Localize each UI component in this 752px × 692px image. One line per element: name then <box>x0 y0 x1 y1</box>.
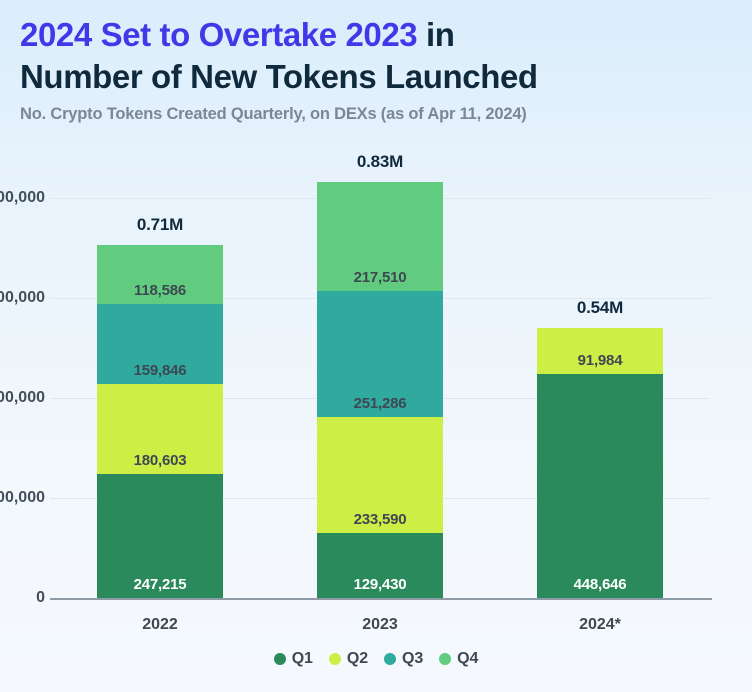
chart-subtitle: No. Crypto Tokens Created Quarterly, on … <box>20 105 732 124</box>
bar-segment-q2[interactable]: 91,984 <box>537 328 663 374</box>
plot-area: 0200,000400,000600,000800,000 247,215180… <box>0 150 752 650</box>
bar-segment-value-q1: 448,646 <box>537 576 663 593</box>
legend-swatch-q3 <box>384 653 396 665</box>
bar-segment-q1[interactable]: 448,646 <box>537 374 663 598</box>
legend-item-q3[interactable]: Q3 <box>384 650 423 668</box>
bar-segment-q3[interactable]: 251,286 <box>317 291 443 417</box>
title-accent-text: 2024 Set to Overtake 2023 <box>20 16 417 53</box>
bar-segment-q4[interactable]: 118,586 <box>97 245 223 304</box>
bar-segment-q3[interactable]: 159,846 <box>97 304 223 384</box>
bar-segment-value-q1: 129,430 <box>317 576 443 593</box>
legend-item-q4[interactable]: Q4 <box>439 650 478 668</box>
bar-segment-value-q3: 159,846 <box>97 362 223 379</box>
legend-label-q1: Q1 <box>292 650 313 668</box>
legend-item-q2[interactable]: Q2 <box>329 650 368 668</box>
bar-segment-value-q3: 251,286 <box>317 395 443 412</box>
infographic-root: 2024 Set to Overtake 2023 in Number of N… <box>0 0 752 692</box>
legend-swatch-q4 <box>439 653 451 665</box>
bar-segment-q2[interactable]: 233,590 <box>317 417 443 534</box>
page-title: 2024 Set to Overtake 2023 in Number of N… <box>20 14 732 98</box>
y-axis-tick-label: 800,000 <box>0 189 45 207</box>
bar-segment-value-q2: 91,984 <box>537 352 663 369</box>
legend-swatch-q1 <box>274 653 286 665</box>
x-axis-label: 2023 <box>287 616 473 634</box>
bar-total-label: 0.71M <box>67 215 253 235</box>
y-axis-tick-label: 200,000 <box>0 489 45 507</box>
x-axis-label: 2022 <box>67 616 253 634</box>
legend-label-q2: Q2 <box>347 650 368 668</box>
chart-header: 2024 Set to Overtake 2023 in Number of N… <box>0 0 752 124</box>
legend-item-q1[interactable]: Q1 <box>274 650 313 668</box>
bar-segment-value-q2: 180,603 <box>97 452 223 469</box>
bar-segment-q4[interactable]: 217,510 <box>317 182 443 291</box>
bar-segment-q2[interactable]: 180,603 <box>97 384 223 474</box>
y-axis-tick-label: 400,000 <box>0 389 45 407</box>
legend-swatch-q2 <box>329 653 341 665</box>
bar-segment-value-q4: 217,510 <box>317 269 443 286</box>
bar-segment-value-q1: 247,215 <box>97 576 223 593</box>
title-line2: Number of New Tokens Launched <box>20 58 538 95</box>
bar-segment-q1[interactable]: 247,215 <box>97 474 223 598</box>
legend-label-q3: Q3 <box>402 650 423 668</box>
x-axis-label: 2024* <box>507 616 693 634</box>
stacked-bar[interactable]: 247,215180,603159,846118,586 <box>97 245 223 598</box>
bar-segment-value-q4: 118,586 <box>97 282 223 299</box>
y-axis-tick-label: 600,000 <box>0 289 45 307</box>
bar-total-label: 0.83M <box>287 152 473 172</box>
stacked-bar[interactable]: 448,64691,984 <box>537 328 663 598</box>
legend-label-q4: Q4 <box>457 650 478 668</box>
y-axis-tick-label: 0 <box>0 589 45 607</box>
chart-legend: Q1 Q2 Q3 Q4 <box>0 650 752 668</box>
bar-segment-value-q2: 233,590 <box>317 511 443 528</box>
stacked-bar[interactable]: 129,430233,590251,286217,510 <box>317 182 443 598</box>
bar-segment-q1[interactable]: 129,430 <box>317 533 443 598</box>
title-rest-line1: in <box>417 16 454 53</box>
bar-total-label: 0.54M <box>507 298 693 318</box>
x-axis-line <box>50 598 712 600</box>
